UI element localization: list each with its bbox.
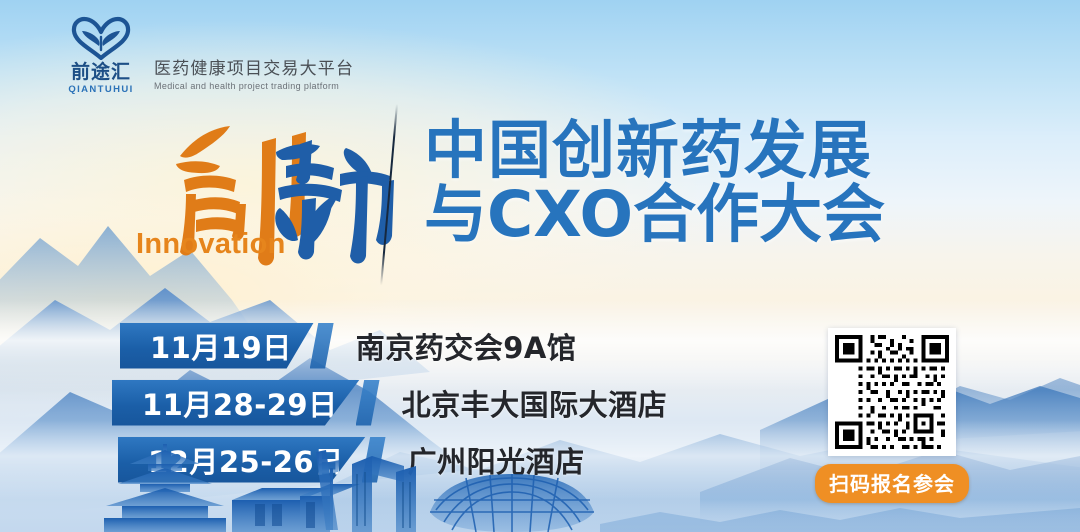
qr-matrix (835, 335, 949, 449)
qr-code-icon[interactable] (828, 328, 956, 456)
logo-name-en: QIANTUHUI (68, 84, 133, 95)
event-list: 11月19日 南京药交会9A馆 11月28-29日 北京丰大国际大酒店 12月2… (0, 318, 720, 489)
event-date-badge: 11月19日 (120, 323, 314, 369)
event-date-badge: 12月25-26日 (118, 437, 366, 483)
tagline-cn: 医药健康项目交易大平台 (154, 54, 354, 79)
logo-name-cn: 前途汇 (71, 63, 131, 83)
list-item: 11月19日 南京药交会9A馆 (0, 318, 720, 373)
headline-line-2: 与CXO合作大会 (424, 183, 885, 247)
page-title: 中国创新药发展 与CXO合作大会 (424, 119, 885, 248)
qr-registration-block[interactable]: 扫码报名参会 (815, 328, 969, 503)
event-date-badge: 11月28-29日 (112, 380, 360, 426)
headline-line-1: 中国创新药发展 (424, 114, 872, 187)
list-item: 11月28-29日 北京丰大国际大酒店 (0, 375, 720, 430)
logo-mark: 前途汇 QIANTUHUI (58, 16, 144, 95)
brand-logo: 前途汇 QIANTUHUI 医药健康项目交易大平台 Medical and he… (58, 16, 354, 95)
event-venue: 北京丰大国际大酒店 (402, 382, 668, 424)
event-venue: 广州阳光酒店 (408, 439, 585, 481)
badge-accent-tab (310, 323, 334, 369)
tagline-en: Medical and health project trading platf… (154, 81, 354, 91)
qr-label[interactable]: 扫码报名参会 (815, 464, 969, 503)
heart-leaf-icon (69, 16, 133, 60)
badge-accent-tab (362, 437, 386, 483)
brand-tagline: 医药健康项目交易大平台 Medical and health project t… (154, 54, 354, 95)
list-item: 12月25-26日 广州阳光酒店 (0, 432, 720, 487)
badge-accent-tab (356, 380, 380, 426)
innovation-subtitle: Innovation (136, 228, 286, 261)
promotional-banner: 前途汇 QIANTUHUI 医药健康项目交易大平台 Medical and he… (0, 0, 1080, 532)
event-venue: 南京药交会9A馆 (356, 325, 577, 367)
